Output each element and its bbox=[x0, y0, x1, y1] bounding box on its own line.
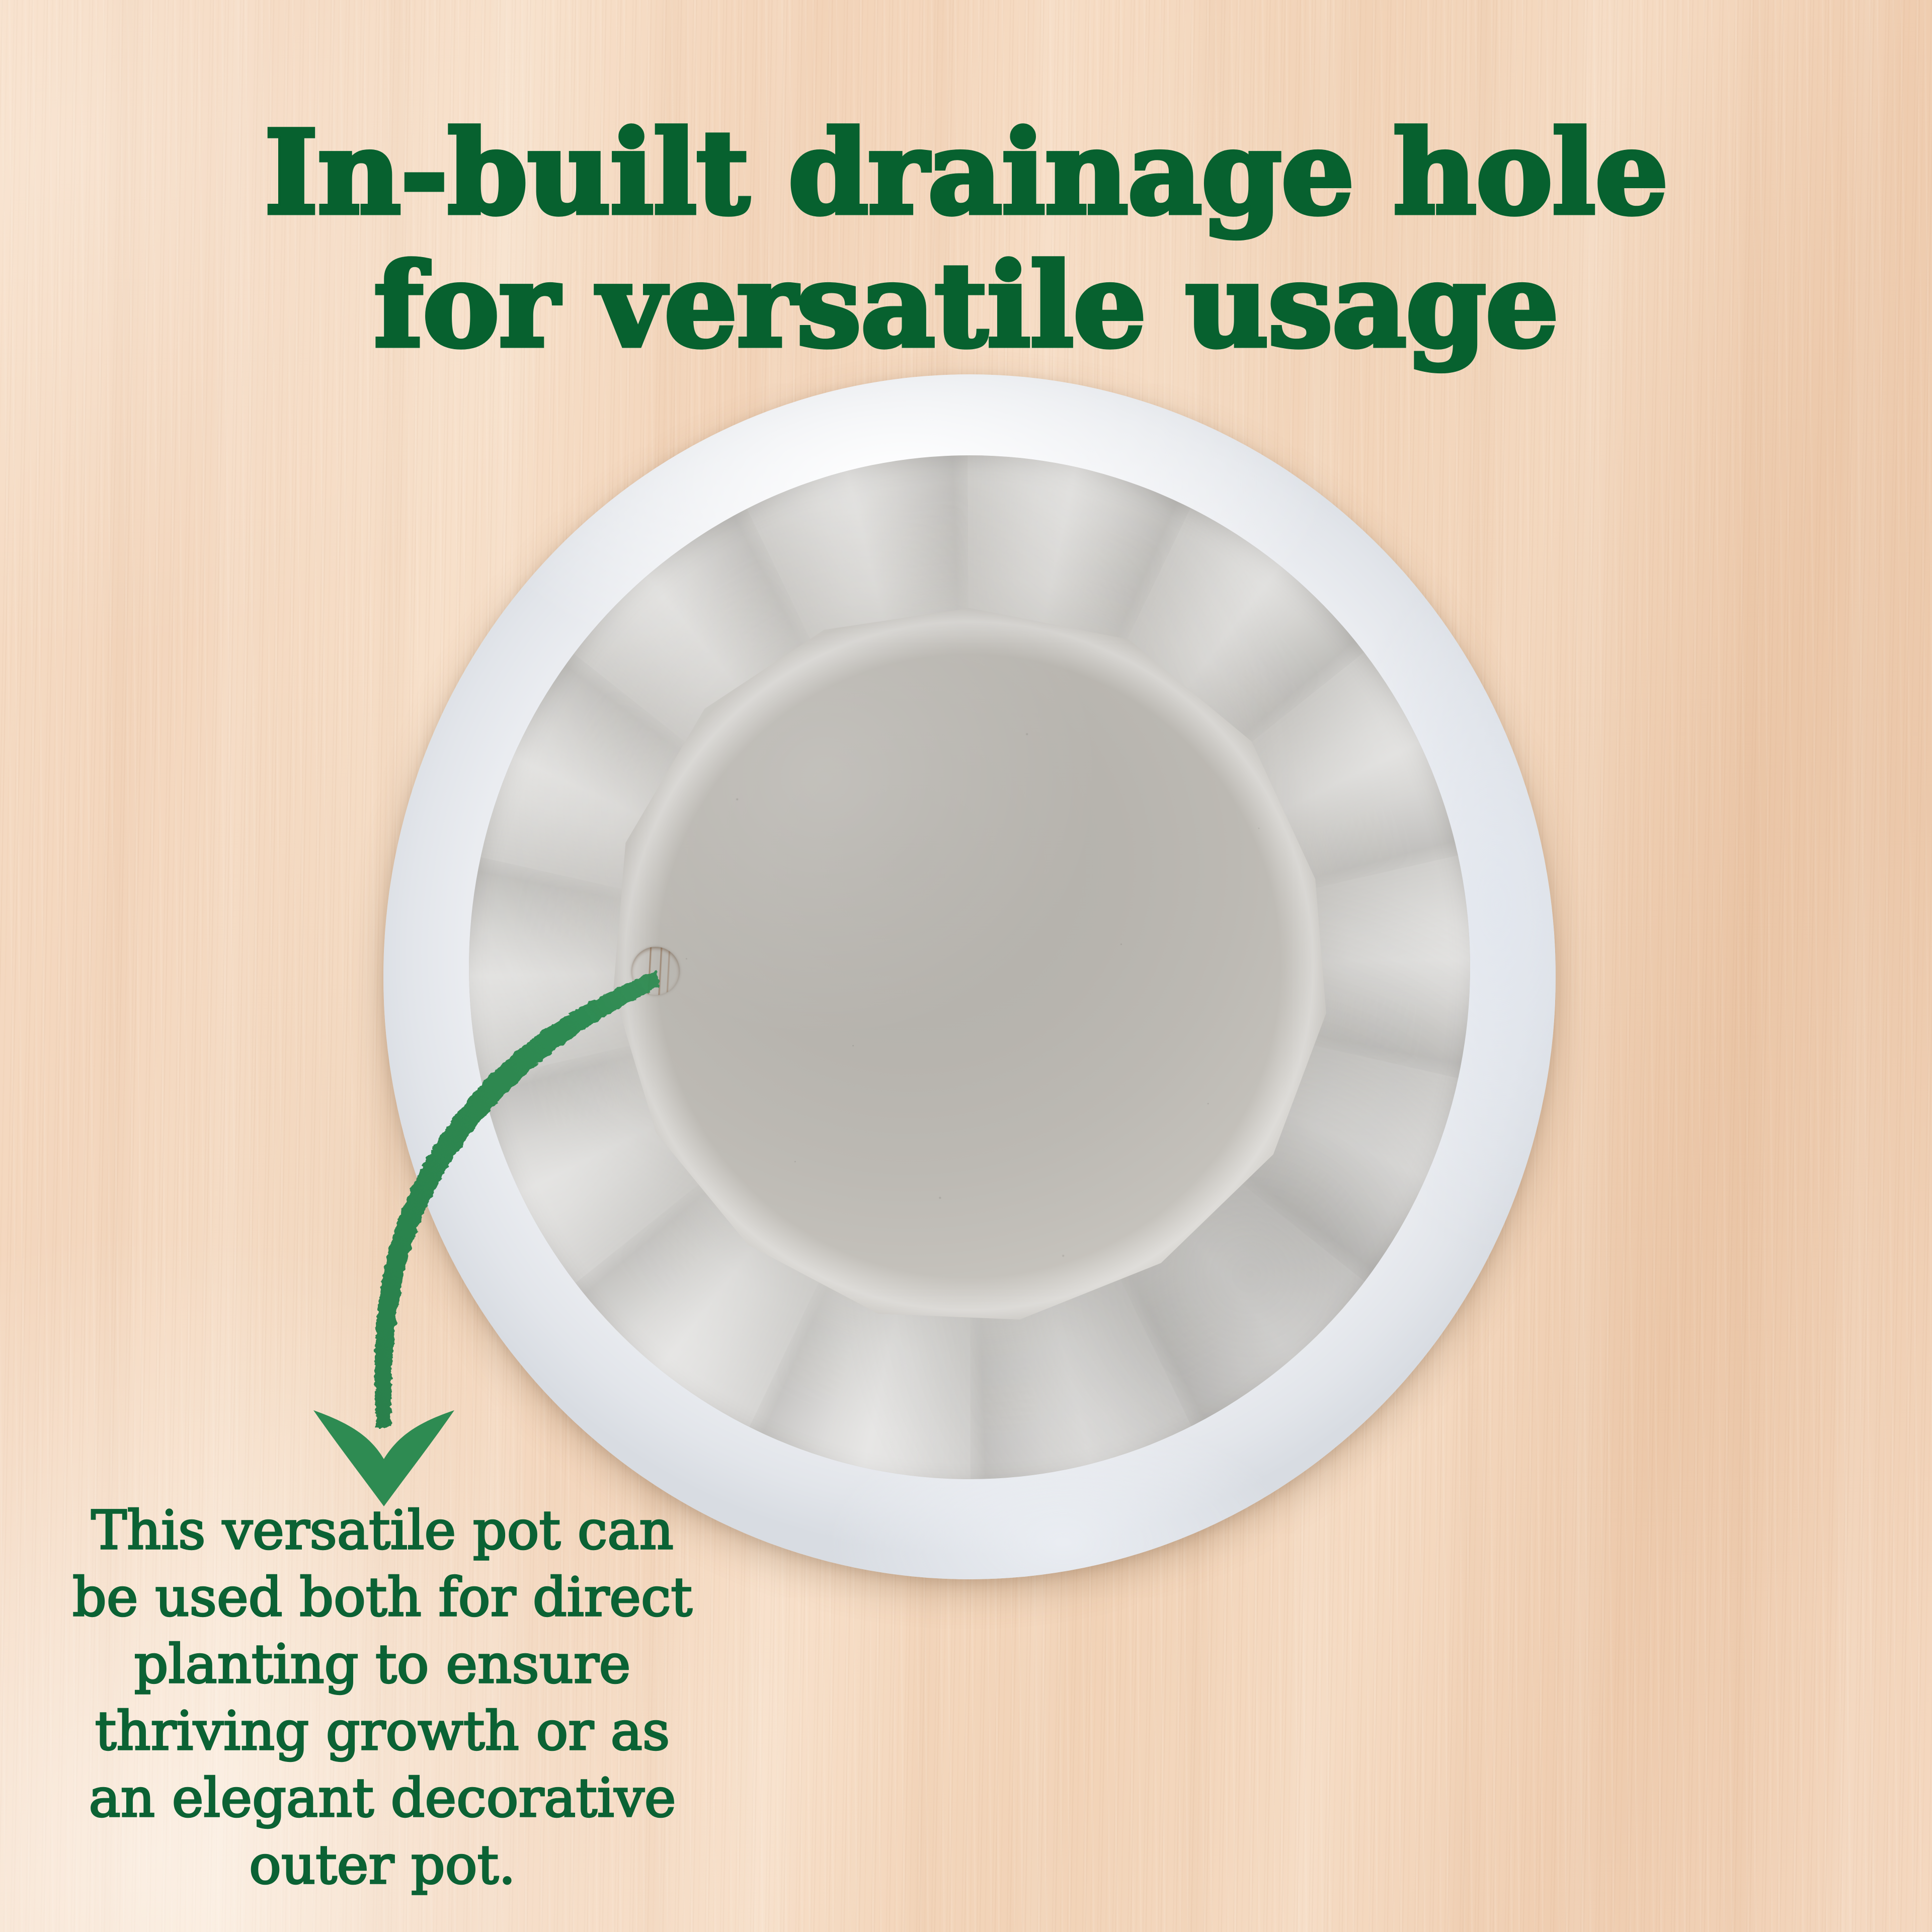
caption-line-5: an elegant decorative bbox=[60, 1764, 704, 1831]
feature-caption: This versatile pot can be used both for … bbox=[60, 1497, 704, 1898]
drainage-hole bbox=[631, 947, 680, 995]
infographic-canvas: In-built drainage hole for versatile usa… bbox=[0, 0, 1932, 1932]
caption-line-3: planting to ensure bbox=[60, 1631, 704, 1698]
page-title: In-built drainage hole for versatile usa… bbox=[0, 106, 1932, 372]
caption-line-1: This versatile pot can bbox=[60, 1497, 704, 1564]
caption-line-4: thriving growth or as bbox=[60, 1698, 704, 1764]
caption-line-6: outer pot. bbox=[60, 1831, 704, 1898]
title-line-1: In-built drainage hole bbox=[0, 106, 1932, 239]
title-line-2: for versatile usage bbox=[0, 239, 1932, 372]
caption-line-2: be used both for direct bbox=[60, 1564, 704, 1631]
